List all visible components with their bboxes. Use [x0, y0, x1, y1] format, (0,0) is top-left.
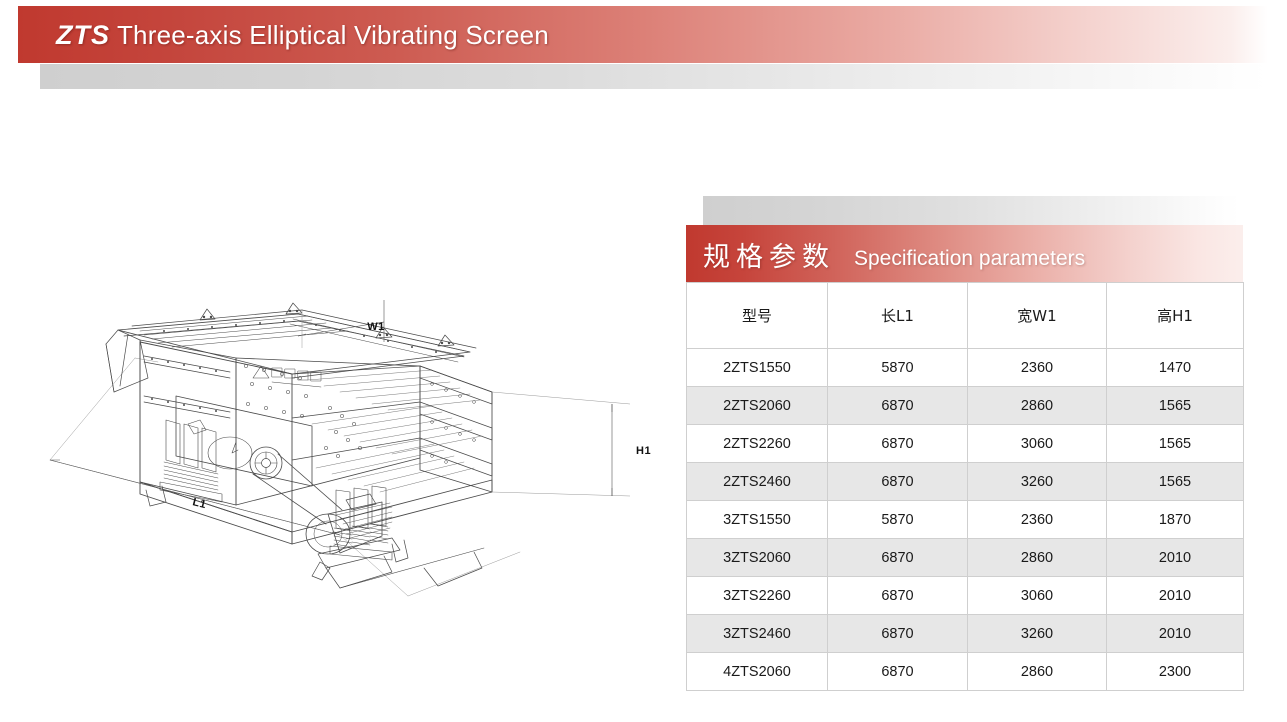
- dimension-label-w1: W1: [367, 321, 385, 333]
- cell-model: 2ZTS2260: [687, 425, 828, 463]
- table-row: 2ZTS2060 6870 2860 1565: [687, 387, 1244, 425]
- table-row: 3ZTS2460 6870 3260 2010: [687, 615, 1244, 653]
- cell-model: 3ZTS2260: [687, 577, 828, 615]
- brand-label: ZTS: [56, 20, 110, 50]
- dimension-label-l1: L1: [191, 496, 207, 511]
- cell-width: 3260: [968, 615, 1107, 653]
- cell-model: 3ZTS1550: [687, 501, 828, 539]
- cell-width: 2860: [968, 653, 1107, 691]
- product-title-label: Three-axis Elliptical Vibrating Screen: [117, 20, 549, 50]
- table-row: 3ZTS2260 6870 3060 2010: [687, 577, 1244, 615]
- cell-length: 5870: [828, 501, 968, 539]
- spec-header-cn-label: 规格参数: [703, 235, 835, 274]
- cell-height: 2010: [1107, 615, 1244, 653]
- cell-width: 2360: [968, 349, 1107, 387]
- cell-height: 1565: [1107, 425, 1244, 463]
- cell-length: 5870: [828, 349, 968, 387]
- specification-table-body: 2ZTS1550 5870 2360 1470 2ZTS2060 6870 28…: [687, 349, 1244, 691]
- cell-model: 2ZTS2460: [687, 463, 828, 501]
- cell-height: 2010: [1107, 539, 1244, 577]
- table-header-row: 型号 长L1 宽W1 高H1: [687, 283, 1244, 349]
- spec-header-en-label: Specification parameters: [854, 247, 1085, 271]
- vibrating-screen-isometric-svg: W1 H1 L1: [40, 300, 680, 600]
- cell-width: 3260: [968, 463, 1107, 501]
- table-row: 2ZTS2460 6870 3260 1565: [687, 463, 1244, 501]
- table-row: 2ZTS1550 5870 2360 1470: [687, 349, 1244, 387]
- table-row: 3ZTS2060 6870 2860 2010: [687, 539, 1244, 577]
- table-row: 2ZTS2260 6870 3060 1565: [687, 425, 1244, 463]
- cell-width: 3060: [968, 425, 1107, 463]
- cell-width: 2360: [968, 501, 1107, 539]
- specification-table: 型号 长L1 宽W1 高H1 2ZTS1550 5870 2360 1470 2…: [686, 282, 1244, 691]
- cell-height: 1565: [1107, 387, 1244, 425]
- page-title: ZTS Three-axis Elliptical Vibrating Scre…: [56, 20, 549, 51]
- column-header-height: 高H1: [1107, 283, 1244, 349]
- cell-height: 1870: [1107, 501, 1244, 539]
- cell-width: 3060: [968, 577, 1107, 615]
- spec-table-shadow-bar: [703, 196, 1240, 226]
- cell-height: 2300: [1107, 653, 1244, 691]
- banner-shadow-bar: [40, 64, 1268, 89]
- cell-length: 6870: [828, 615, 968, 653]
- table-row: 3ZTS1550 5870 2360 1870: [687, 501, 1244, 539]
- page-banner: ZTS Three-axis Elliptical Vibrating Scre…: [18, 6, 1268, 63]
- table-row: 4ZTS2060 6870 2860 2300: [687, 653, 1244, 691]
- machine-logo-mark: [253, 366, 321, 387]
- column-header-width: 宽W1: [968, 283, 1107, 349]
- cell-model: 4ZTS2060: [687, 653, 828, 691]
- cell-height: 1470: [1107, 349, 1244, 387]
- cell-length: 6870: [828, 577, 968, 615]
- cell-length: 6870: [828, 653, 968, 691]
- cell-model: 3ZTS2460: [687, 615, 828, 653]
- cell-height: 2010: [1107, 577, 1244, 615]
- cell-length: 6870: [828, 539, 968, 577]
- cell-model: 2ZTS1550: [687, 349, 828, 387]
- cell-height: 1565: [1107, 463, 1244, 501]
- dimension-label-h1: H1: [636, 445, 651, 457]
- column-header-model: 型号: [687, 283, 828, 349]
- spec-table-header-banner: 规格参数 Specification parameters: [686, 225, 1243, 282]
- cell-model: 3ZTS2060: [687, 539, 828, 577]
- cell-length: 6870: [828, 463, 968, 501]
- cell-width: 2860: [968, 539, 1107, 577]
- column-header-length: 长L1: [828, 283, 968, 349]
- cell-model: 2ZTS2060: [687, 387, 828, 425]
- cell-length: 6870: [828, 387, 968, 425]
- cell-length: 6870: [828, 425, 968, 463]
- machine-technical-drawing: W1 H1 L1: [40, 300, 680, 600]
- cell-width: 2860: [968, 387, 1107, 425]
